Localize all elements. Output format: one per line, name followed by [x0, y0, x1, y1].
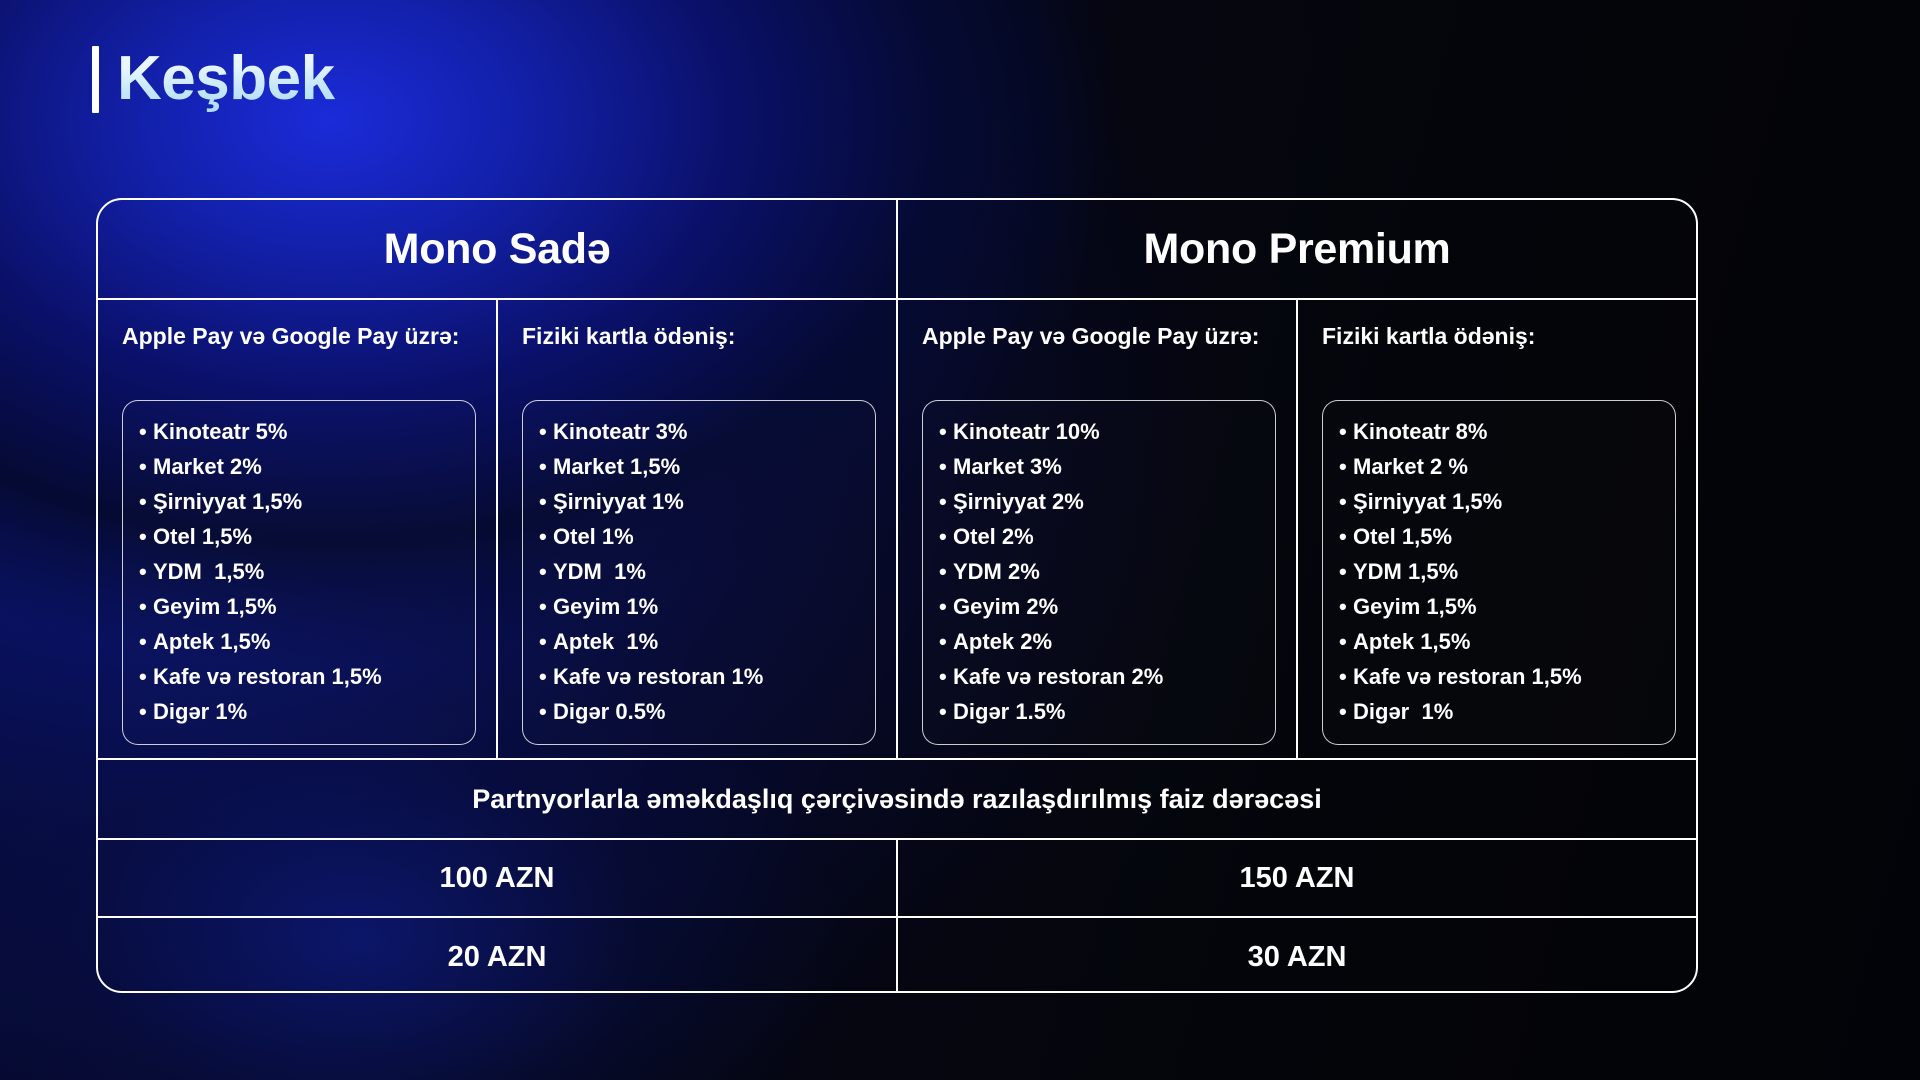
rate-card: •Kinoteatr 3% •Market 1,5% •Şirniyyat 1%…: [522, 400, 876, 745]
bullet-icon: •: [539, 561, 553, 583]
rate-item: •Otel 1,5%: [1339, 520, 1659, 555]
rate-text: Market 2%: [153, 454, 262, 479]
bullet-icon: •: [1339, 491, 1353, 513]
bullet-icon: •: [539, 526, 553, 548]
page-title: Keşbek: [92, 46, 341, 113]
paycol-heading: Apple Pay və Google Pay üzrə:: [122, 322, 476, 382]
rate-item: •YDM 1%: [539, 555, 859, 590]
rate-item: •Kinoteatr 10%: [939, 415, 1259, 450]
bullet-icon: •: [939, 561, 953, 583]
rate-text: Şirniyyat 2%: [953, 489, 1084, 514]
bullet-icon: •: [139, 596, 153, 618]
bullet-icon: •: [1339, 526, 1353, 548]
amount-cell-premium: 150 AZN: [898, 840, 1696, 916]
rate-item: •Kafe və restoran 2%: [939, 660, 1259, 695]
bullet-icon: •: [1339, 666, 1353, 688]
rate-text: Geyim 1%: [553, 594, 658, 619]
bullet-icon: •: [139, 701, 153, 723]
rate-text: YDM 1,5%: [1353, 559, 1458, 584]
amount-cell-sade: 20 AZN: [98, 918, 898, 993]
bullet-icon: •: [539, 631, 553, 653]
rate-text: Geyim 1,5%: [153, 594, 277, 619]
rate-text: YDM 1%: [553, 559, 646, 584]
rate-item: •Digər 1%: [139, 695, 459, 730]
rate-item: •Aptek 1,5%: [1339, 625, 1659, 660]
bullet-icon: •: [939, 526, 953, 548]
plan-name-premium: Mono Premium: [1144, 225, 1451, 274]
rate-item: •Otel 1,5%: [139, 520, 459, 555]
rate-card: •Kinoteatr 10% •Market 3% •Şirniyyat 2% …: [922, 400, 1276, 745]
rate-item: •Kinoteatr 5%: [139, 415, 459, 450]
rate-text: Kinoteatr 5%: [153, 419, 287, 444]
rate-text: Şirniyyat 1%: [553, 489, 684, 514]
bullet-icon: •: [139, 421, 153, 443]
bullet-icon: •: [139, 456, 153, 478]
rate-item: •Kafe və restoran 1,5%: [1339, 660, 1659, 695]
rate-card: •Kinoteatr 8% •Market 2 % •Şirniyyat 1,5…: [1322, 400, 1676, 745]
rate-item: •Şirniyyat 1,5%: [139, 485, 459, 520]
bullet-icon: •: [539, 456, 553, 478]
partner-note-row: Partnyorlarla əməkdaşlıq çərçivəsində ra…: [98, 760, 1696, 840]
rate-item: •Şirniyyat 1,5%: [1339, 485, 1659, 520]
bullet-icon: •: [939, 666, 953, 688]
rate-text: Kinoteatr 8%: [1353, 419, 1487, 444]
bullet-icon: •: [539, 491, 553, 513]
bullet-icon: •: [939, 421, 953, 443]
amount-value: 150 AZN: [1240, 862, 1355, 895]
rate-text: Aptek 2%: [953, 629, 1052, 654]
bullet-icon: •: [1339, 421, 1353, 443]
rate-item: •Market 3%: [939, 450, 1259, 485]
bullet-icon: •: [939, 491, 953, 513]
plan-header-sade: Mono Sadə: [98, 200, 898, 298]
bullet-icon: •: [1339, 456, 1353, 478]
rate-item: •Kinoteatr 3%: [539, 415, 859, 450]
paycol-premium-digital: Apple Pay və Google Pay üzrə: •Kinoteatr…: [898, 300, 1298, 758]
rate-item: •Otel 2%: [939, 520, 1259, 555]
rate-text: Otel 1%: [553, 524, 634, 549]
rate-text: Digər 0.5%: [553, 699, 666, 724]
rate-item: •Market 2%: [139, 450, 459, 485]
rate-text: Aptek 1,5%: [153, 629, 270, 654]
rate-item: •Geyim 1,5%: [139, 590, 459, 625]
rate-text: Kafe və restoran 1%: [553, 664, 763, 689]
rate-item: •Geyim 2%: [939, 590, 1259, 625]
paycol-premium-physical: Fiziki kartla ödəniş: •Kinoteatr 8% •Mar…: [1298, 300, 1696, 758]
bullet-icon: •: [939, 456, 953, 478]
bullet-icon: •: [139, 526, 153, 548]
plan-body-sade: Apple Pay və Google Pay üzrə: •Kinoteatr…: [98, 300, 898, 758]
rate-text: Digər 1%: [1353, 699, 1453, 724]
plan-body-premium: Apple Pay və Google Pay üzrə: •Kinoteatr…: [898, 300, 1696, 758]
rate-text: Geyim 2%: [953, 594, 1058, 619]
bullet-icon: •: [939, 596, 953, 618]
rate-text: Market 1,5%: [553, 454, 680, 479]
rate-item: •Şirniyyat 1%: [539, 485, 859, 520]
rate-text: YDM 2%: [953, 559, 1040, 584]
rate-text: Market 3%: [953, 454, 1062, 479]
rate-text: Aptek 1%: [553, 629, 658, 654]
rate-text: Digər 1.5%: [953, 699, 1066, 724]
rate-text: Otel 1,5%: [1353, 524, 1452, 549]
amount-cell-sade: 100 AZN: [98, 840, 898, 916]
bullet-icon: •: [539, 421, 553, 443]
rate-item: •YDM 1,5%: [1339, 555, 1659, 590]
amount-value: 20 AZN: [448, 941, 547, 974]
bullet-icon: •: [139, 631, 153, 653]
rate-text: Aptek 1,5%: [1353, 629, 1470, 654]
rate-text: Market 2 %: [1353, 454, 1468, 479]
rate-text: Otel 1,5%: [153, 524, 252, 549]
bullet-icon: •: [139, 491, 153, 513]
rate-text: Kinoteatr 3%: [553, 419, 687, 444]
bullet-icon: •: [1339, 631, 1353, 653]
rate-text: Kafe və restoran 1,5%: [1353, 664, 1582, 689]
rate-text: Kinoteatr 10%: [953, 419, 1100, 444]
bullet-icon: •: [539, 701, 553, 723]
rate-item: •Aptek 1%: [539, 625, 859, 660]
rate-text: Otel 2%: [953, 524, 1034, 549]
bullet-icon: •: [539, 666, 553, 688]
partner-note-text: Partnyorlarla əməkdaşlıq çərçivəsində ra…: [472, 784, 1321, 815]
rate-item: •Aptek 2%: [939, 625, 1259, 660]
amount-value: 100 AZN: [440, 862, 555, 895]
rate-item: •Digər 0.5%: [539, 695, 859, 730]
amount-row-2: 20 AZN 30 AZN: [98, 918, 1696, 993]
bullet-icon: •: [939, 631, 953, 653]
rate-item: •YDM 1,5%: [139, 555, 459, 590]
rate-card: •Kinoteatr 5% •Market 2% •Şirniyyat 1,5%…: [122, 400, 476, 745]
rate-item: •Market 2 %: [1339, 450, 1659, 485]
rate-item: •YDM 2%: [939, 555, 1259, 590]
rate-item: •Digər 1%: [1339, 695, 1659, 730]
rate-item: •Kafe və restoran 1%: [539, 660, 859, 695]
rate-item: •Digər 1.5%: [939, 695, 1259, 730]
bullet-icon: •: [1339, 701, 1353, 723]
rate-text: Geyim 1,5%: [1353, 594, 1477, 619]
bullet-icon: •: [1339, 596, 1353, 618]
rate-text: Şirniyyat 1,5%: [1353, 489, 1502, 514]
bullet-icon: •: [139, 666, 153, 688]
rate-text: YDM 1,5%: [153, 559, 264, 584]
rate-item: •Otel 1%: [539, 520, 859, 555]
rate-text: Şirniyyat 1,5%: [153, 489, 302, 514]
bullet-icon: •: [1339, 561, 1353, 583]
rate-item: •Kafe və restoran 1,5%: [139, 660, 459, 695]
plan-name-sade: Mono Sadə: [384, 225, 611, 274]
rate-item: •Geyim 1,5%: [1339, 590, 1659, 625]
rate-item: •Kinoteatr 8%: [1339, 415, 1659, 450]
plan-header-row: Mono Sadə Mono Premium: [98, 200, 1696, 300]
rates-row: Apple Pay və Google Pay üzrə: •Kinoteatr…: [98, 300, 1696, 760]
rate-text: Kafe və restoran 2%: [953, 664, 1163, 689]
amount-cell-premium: 30 AZN: [898, 918, 1696, 993]
paycol-sade-digital: Apple Pay və Google Pay üzrə: •Kinoteatr…: [98, 300, 498, 758]
page-title-text: Keşbek: [117, 46, 341, 113]
paycol-heading: Fiziki kartla ödəniş:: [1322, 322, 1676, 382]
rate-text: Kafe və restoran 1,5%: [153, 664, 382, 689]
rate-item: •Market 1,5%: [539, 450, 859, 485]
amount-row-1: 100 AZN 150 AZN: [98, 840, 1696, 918]
bullet-icon: •: [139, 561, 153, 583]
paycol-heading: Fiziki kartla ödəniş:: [522, 322, 876, 382]
title-accent-bar: [92, 46, 99, 113]
rate-item: •Şirniyyat 2%: [939, 485, 1259, 520]
bullet-icon: •: [939, 701, 953, 723]
bullet-icon: •: [539, 596, 553, 618]
rate-text: Digər 1%: [153, 699, 247, 724]
slide-canvas: Keşbek Mono Sadə Mono Premium Apple Pay …: [0, 0, 1920, 1080]
plan-header-premium: Mono Premium: [898, 200, 1696, 298]
paycol-heading: Apple Pay və Google Pay üzrə:: [922, 322, 1276, 382]
rate-item: •Geyim 1%: [539, 590, 859, 625]
cashback-table: Mono Sadə Mono Premium Apple Pay və Goog…: [96, 198, 1698, 993]
paycol-sade-physical: Fiziki kartla ödəniş: •Kinoteatr 3% •Mar…: [498, 300, 896, 758]
rate-item: •Aptek 1,5%: [139, 625, 459, 660]
amount-value: 30 AZN: [1248, 941, 1347, 974]
